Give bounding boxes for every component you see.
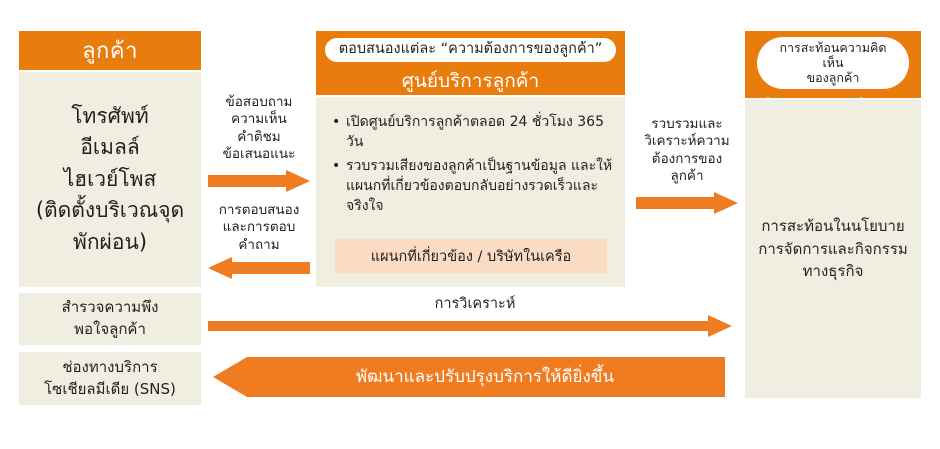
survey-line-2: พอใจลูกค้า (74, 319, 146, 341)
collect-label-line-2: วิเคราะห์ความ (628, 133, 746, 150)
inquiry-label-line-3: คำติชม (206, 129, 312, 146)
customer-feedback-callout-bubble: การสะท้อนความคิดเห็น ของลูกค้า (757, 37, 909, 89)
list-item: • รวบรวมเสียงของลูกค้าเป็นฐานข้อมูล และใ… (346, 157, 613, 217)
customer-satisfaction-survey-box: สำรวจความพึง พอใจลูกค้า (19, 293, 201, 345)
customer-channel-line-3: ไฮเวย์โพส (64, 164, 157, 196)
customer-panel-header: ลูกค้า (19, 31, 201, 70)
sns-line-1: ช่องทางบริการ (62, 357, 157, 379)
bullet-glyph-icon: • (332, 113, 340, 133)
diagram-canvas: ลูกค้า โทรศัพท์ อีเมลล์ ไฮเวย์โพส (ติดตั… (0, 0, 940, 449)
list-item: • เปิดศูนย์บริการลูกค้าตลอด 24 ชั่วโมง 3… (346, 113, 613, 153)
collect-label-line-3: ต้องการของ (628, 151, 746, 168)
survey-line-1: สำรวจความพึง (62, 297, 159, 319)
customer-channel-line-4: (ติดตั้งบริเวณจุด (36, 195, 184, 227)
call-center-callout-bubble: ตอบสนองแต่ละ “ความต้องการของลูกค้า” (325, 38, 617, 62)
customer-channel-line-1: โทรศัพท์ (71, 101, 148, 133)
collect-analyze-arrow-label: รวบรวมและ วิเคราะห์ความ ต้องการของ ลูกค้… (628, 116, 746, 185)
business-activity-line-3: ทางธุรกิจ (803, 260, 864, 283)
customer-channels-box: โทรศัพท์ อีเมลล์ ไฮเวย์โพส (ติดตั้งบริเว… (19, 72, 201, 287)
related-departments-box: แผนกที่เกี่ยวข้อง / บริษัทในเครือ (335, 239, 607, 273)
collect-label-line-4: ลูกค้า (628, 168, 746, 185)
business-activity-panel-body: การสะท้อนในนโยบาย การจัดการและกิจกรรม ทา… (745, 100, 921, 398)
analysis-arrow-label: การวิเคราะห์ (350, 295, 600, 314)
customer-channel-line-5: พักผ่อน) (73, 227, 147, 259)
inquiry-arrow-label: ข้อสอบถาม ความเห็น คำติชม ข้อเสนอแนะ (206, 94, 312, 163)
business-activity-line-1: การสะท้อนในนโยบาย (761, 215, 904, 238)
improvement-arrow-label: พัฒนาและปรับปรุงบริการให้ดียิ่งขึ้น (240, 367, 730, 389)
collect-label-line-1: รวบรวมและ (628, 116, 746, 133)
customer-channel-line-2: อีเมลล์ (80, 132, 139, 164)
response-label-line-1: การตอบสนอง (204, 202, 314, 219)
call-center-title: ศูนย์บริการลูกค้า (402, 66, 539, 96)
inquiry-label-line-4: ข้อเสนอแนะ (206, 146, 312, 163)
bullet-glyph-icon: • (332, 157, 340, 177)
business-activity-panel-header: การสะท้อนความคิดเห็น ของลูกค้า กิจกรรมกา… (745, 31, 921, 98)
inquiry-label-line-2: ความเห็น (206, 111, 312, 128)
list-item-text: รวบรวมเสียงของลูกค้าเป็นฐานข้อมูล และให้… (346, 158, 612, 214)
list-item-text: เปิดศูนย์บริการลูกค้าตลอด 24 ชั่วโมง 365… (346, 114, 604, 150)
business-activity-line-2: การจัดการและกิจกรรม (758, 238, 908, 261)
response-arrow-left-icon (208, 257, 310, 279)
sns-line-2: โซเชียลมีเดีย (SNS) (44, 379, 176, 401)
customer-panel-header-label: ลูกค้า (82, 33, 138, 68)
analysis-arrow-right-icon (208, 315, 732, 337)
response-arrow-label: การตอบสนอง และการตอบ คำถาม (204, 202, 314, 254)
customer-feedback-bubble-line-1: การสะท้อนความคิดเห็น (769, 40, 897, 70)
response-label-line-2: และการตอบ (204, 219, 314, 236)
call-center-panel-header: ตอบสนองแต่ละ “ความต้องการของลูกค้า” ศูนย… (316, 31, 625, 95)
sns-service-channel-box: ช่องทางบริการ โซเชียลมีเดีย (SNS) (19, 352, 201, 405)
response-label-line-3: คำถาม (204, 237, 314, 254)
customer-feedback-bubble-line-2: ของลูกค้า (769, 70, 897, 85)
call-center-panel-body: • เปิดศูนย์บริการลูกค้าตลอด 24 ชั่วโมง 3… (316, 97, 625, 287)
call-center-bullet-list: • เปิดศูนย์บริการลูกค้าตลอด 24 ชั่วโมง 3… (316, 97, 625, 220)
collect-analyze-arrow-right-icon (636, 192, 738, 214)
inquiry-arrow-right-icon (208, 170, 310, 192)
inquiry-label-line-1: ข้อสอบถาม (206, 94, 312, 111)
